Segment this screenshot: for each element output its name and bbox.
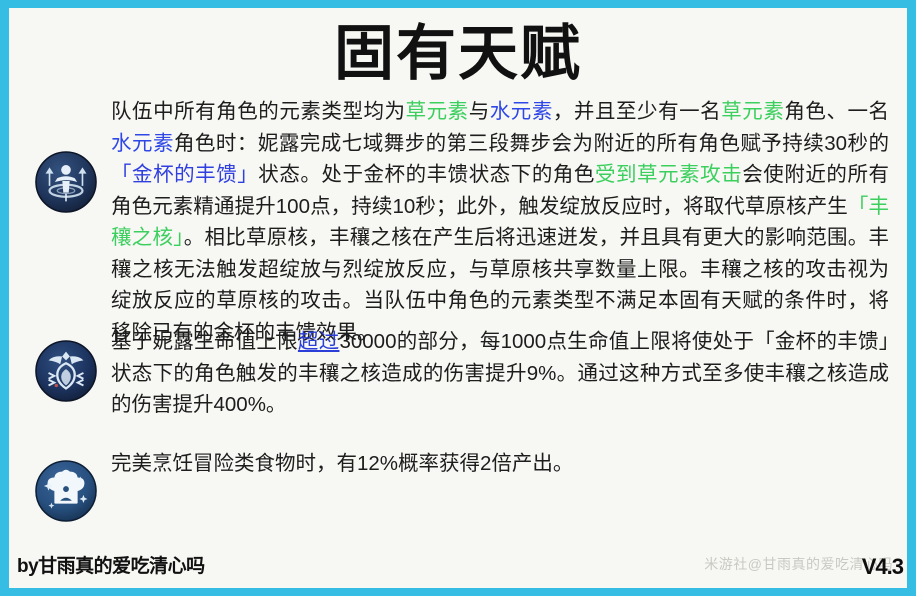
text-segment-dendro: 受到草元素攻击 bbox=[595, 163, 742, 186]
talent-1-description: 队伍中所有角色的元素类型均为草元素与水元素，并且至少有一名草元素角色、一名水元素… bbox=[105, 96, 897, 348]
talent-entry-1: 队伍中所有角色的元素类型均为草元素与水元素，并且至少有一名草元素角色、一名水元素… bbox=[27, 96, 897, 348]
text-segment-plain: 完美烹饪冒险类食物时，有12%概率获得2倍产出。 bbox=[111, 452, 573, 475]
text-segment-buff: 「金杯的丰馈」 bbox=[111, 163, 258, 186]
talent-2-description: 基于妮露生命值上限超过30000的部分，每1000点生命值上限将使处于「金杯的丰… bbox=[105, 326, 897, 421]
text-segment-plain: 基于妮露生命值上限 bbox=[111, 330, 298, 353]
text-segment-plain: ，并且至少有一名 bbox=[553, 100, 721, 123]
text-segment-plain: 队伍中所有角色的元素类型均为 bbox=[111, 100, 406, 123]
screenshot-root: 固有天赋 bbox=[0, 0, 916, 596]
dancer-ripple-icon bbox=[35, 151, 97, 213]
author-credit: by甘雨真的爱吃清心吗 bbox=[17, 551, 205, 578]
talent-3-icon-wrap bbox=[27, 448, 105, 522]
talent-2-icon-wrap bbox=[27, 326, 105, 402]
talent-3-description: 完美烹饪冒险类食物时，有12%概率获得2倍产出。 bbox=[105, 448, 897, 480]
version-badge: V4.3 bbox=[862, 554, 903, 580]
text-segment-plain: 角色时：妮露完成七域舞步的第三段舞步会为附近的所有角色赋予持续30秒的 bbox=[174, 132, 889, 155]
chef-hat-sparkle-icon bbox=[35, 460, 97, 522]
talent-entry-2: 基于妮露生命值上限超过30000的部分，每1000点生命值上限将使处于「金杯的丰… bbox=[27, 326, 897, 421]
text-segment-plain: 状态。处于金杯的丰馈状态下的角色 bbox=[258, 163, 595, 186]
talent-entry-3: 完美烹饪冒险类食物时，有12%概率获得2倍产出。 bbox=[27, 448, 897, 522]
text-segment-dendro: 草元素 bbox=[406, 100, 469, 123]
text-segment-hydro: 水元素 bbox=[111, 132, 174, 155]
text-segment-link[interactable]: 超过 bbox=[298, 330, 340, 353]
talent-1-icon-wrap bbox=[27, 96, 105, 213]
text-segment-dendro: 草元素 bbox=[721, 100, 784, 123]
page-title: 固有天赋 bbox=[9, 18, 907, 90]
text-segment-plain: 角色、一名 bbox=[784, 100, 889, 123]
text-segment-hydro: 水元素 bbox=[490, 100, 553, 123]
winged-heart-emblem-icon bbox=[35, 340, 97, 402]
page-canvas: 固有天赋 bbox=[9, 8, 907, 588]
text-segment-plain: 与 bbox=[469, 100, 490, 123]
